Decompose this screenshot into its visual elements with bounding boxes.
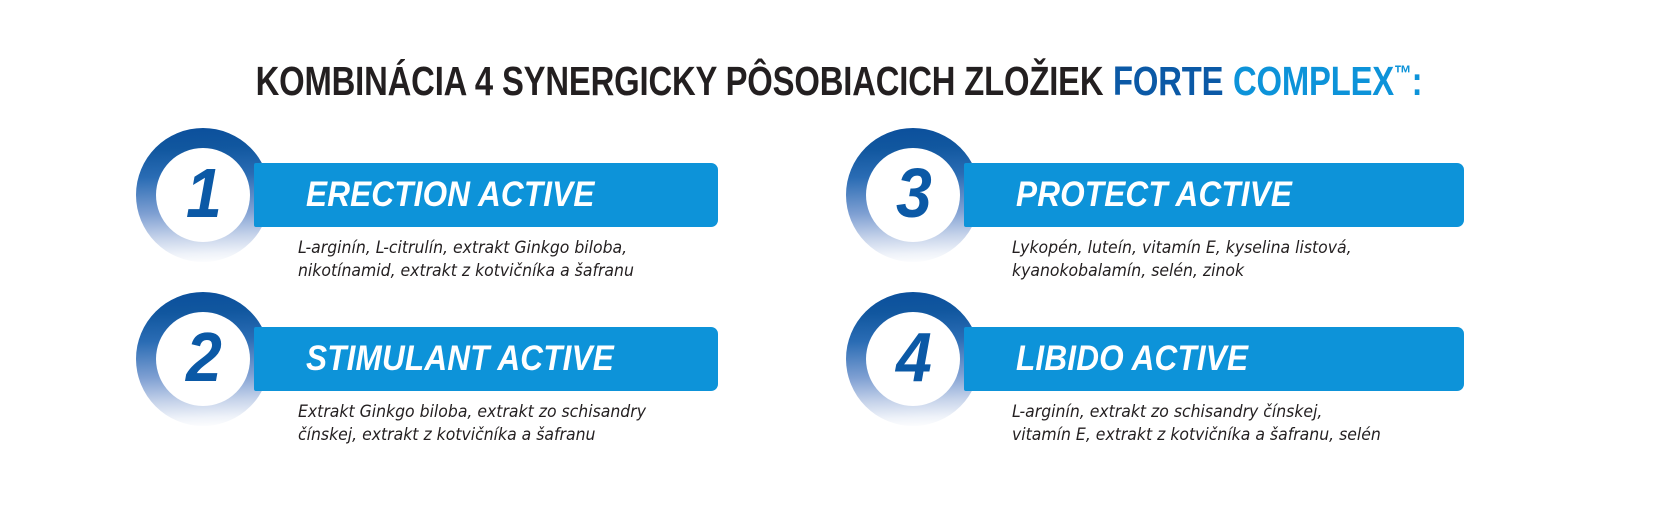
ingredient-label-bar-4: LIBIDO ACTIVE <box>964 327 1464 391</box>
ingredient-label-3: PROTECT ACTIVE <box>1016 175 1292 215</box>
number-badge-1: 1 <box>136 128 270 262</box>
ingredient-description-4: L-arginín, extrakt zo schisandry čínskej… <box>1012 400 1381 446</box>
number-badge-3: 3 <box>846 128 980 262</box>
badge-number-1: 1 <box>141 128 264 262</box>
ingredient-label-2: STIMULANT ACTIVE <box>306 339 614 379</box>
description-line: Lykopén, luteín, vitamín E, kyselina lis… <box>1012 236 1352 259</box>
number-badge-4: 4 <box>846 292 980 426</box>
description-line: kyanokobalamín, selén, zinok <box>1012 259 1352 282</box>
description-line: Extrakt Ginkgo biloba, extrakt zo schisa… <box>298 400 646 423</box>
ingredient-label-bar-2: STIMULANT ACTIVE <box>254 327 718 391</box>
description-line: L-arginín, extrakt zo schisandry čínskej… <box>1012 400 1381 423</box>
description-line: čínskej, extrakt z kotvičníka a šafranu <box>298 423 646 446</box>
ingredient-label-1: ERECTION ACTIVE <box>306 175 595 215</box>
brand-complex: COMPLEX <box>1233 58 1394 104</box>
description-line: nikotínamid, extrakt z kotvičníka a šafr… <box>298 259 634 282</box>
badge-number-4: 4 <box>851 292 974 426</box>
infographic-canvas: KOMBINÁCIA 4 SYNERGICKY PÔSOBIACICH ZLOŽ… <box>0 0 1678 513</box>
ingredient-label-bar-3: PROTECT ACTIVE <box>964 163 1464 227</box>
ingredient-description-3: Lykopén, luteín, vitamín E, kyselina lis… <box>1012 236 1352 282</box>
ingredient-label-bar-1: ERECTION ACTIVE <box>254 163 718 227</box>
trademark-symbol: ™ <box>1394 60 1412 85</box>
number-badge-2: 2 <box>136 292 270 426</box>
description-line: vitamín E, extrakt z kotvičníka a šafran… <box>1012 423 1381 446</box>
description-line: L-arginín, L-citrulín, extrakt Ginkgo bi… <box>298 236 634 259</box>
badge-number-3: 3 <box>851 128 974 262</box>
ingredient-description-1: L-arginín, L-citrulín, extrakt Ginkgo bi… <box>298 236 634 282</box>
title-colon: : <box>1412 58 1423 104</box>
title-main-text: KOMBINÁCIA 4 SYNERGICKY PÔSOBIACICH ZLOŽ… <box>256 58 1104 104</box>
page-title: KOMBINÁCIA 4 SYNERGICKY PÔSOBIACICH ZLOŽ… <box>168 58 1510 105</box>
badge-number-2: 2 <box>141 292 264 426</box>
ingredient-description-2: Extrakt Ginkgo biloba, extrakt zo schisa… <box>298 400 646 446</box>
ingredient-label-4: LIBIDO ACTIVE <box>1016 339 1248 379</box>
brand-forte: FORTE <box>1113 58 1223 104</box>
